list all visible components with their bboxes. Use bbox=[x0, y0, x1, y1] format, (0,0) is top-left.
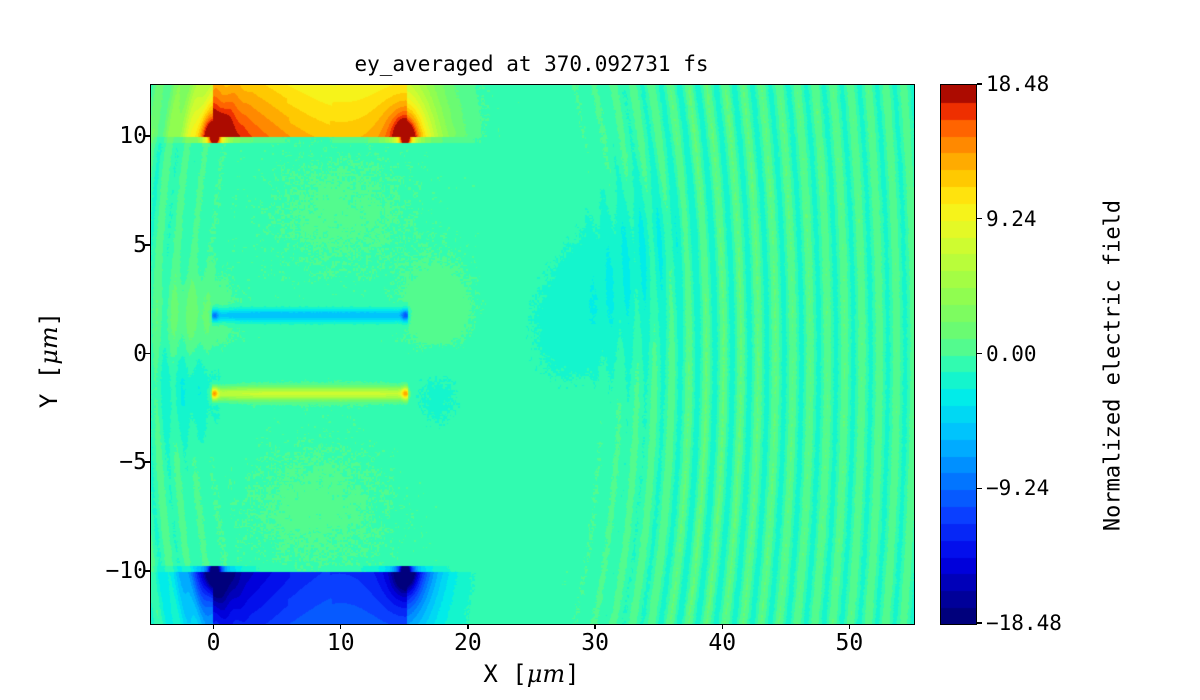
colorbar-tick-mark bbox=[977, 353, 982, 354]
y-tick-label: 10 bbox=[119, 123, 147, 149]
y-tick-label: 5 bbox=[133, 232, 147, 258]
page-title: ey_averaged at 370.092731 fs bbox=[150, 52, 913, 76]
colorbar-label: Normalized electric field bbox=[1101, 166, 1126, 566]
x-axis-label: X [μm] bbox=[150, 660, 913, 688]
colorbar-tick-label: 9.24 bbox=[986, 207, 1037, 231]
x-tick-label: 50 bbox=[836, 630, 864, 656]
colorbar-tick-label: 18.48 bbox=[986, 72, 1049, 96]
y-axis-label: Y [μm] bbox=[35, 210, 63, 510]
y-axis-label-prefix: Y [ bbox=[35, 365, 63, 408]
figure-canvas: ey_averaged at 370.092731 fs 01020304050… bbox=[0, 0, 1200, 700]
x-tick-mark bbox=[849, 624, 850, 629]
x-tick-mark bbox=[594, 624, 595, 629]
colorbar-tick-mark bbox=[977, 218, 982, 219]
x-tick-mark bbox=[467, 624, 468, 629]
x-tick-label: 10 bbox=[327, 630, 355, 656]
colorbar-tick-label: −9.24 bbox=[986, 476, 1049, 500]
x-tick-label: 30 bbox=[581, 630, 609, 656]
colorbar-tick-mark bbox=[977, 488, 982, 489]
x-tick-label: 0 bbox=[207, 630, 221, 656]
x-tick-mark bbox=[722, 624, 723, 629]
x-tick-label: 40 bbox=[708, 630, 736, 656]
x-axis-label-unit: μm bbox=[527, 660, 565, 688]
field-heatmap bbox=[151, 85, 914, 624]
x-axis-label-prefix: X [ bbox=[483, 660, 526, 688]
colorbar-tick-label: −18.48 bbox=[986, 611, 1062, 635]
y-tick-label: 0 bbox=[133, 341, 147, 367]
colorbar-tick-mark bbox=[977, 83, 982, 84]
colorbar-tick-label: 0.00 bbox=[986, 342, 1037, 366]
x-tick-mark bbox=[340, 624, 341, 629]
colorbar-tick-mark bbox=[977, 622, 982, 623]
colorbar[interactable] bbox=[940, 84, 977, 625]
heatmap-axes[interactable] bbox=[150, 84, 915, 625]
colorbar-gradient bbox=[941, 85, 976, 624]
x-tick-mark bbox=[213, 624, 214, 629]
x-tick-label: 20 bbox=[454, 630, 482, 656]
y-axis-label-unit: μm bbox=[35, 326, 63, 364]
x-axis-label-suffix: ] bbox=[565, 660, 579, 688]
y-tick-label: −5 bbox=[119, 449, 147, 475]
y-tick-label: −10 bbox=[105, 558, 147, 584]
y-axis-label-suffix: ] bbox=[35, 312, 63, 326]
